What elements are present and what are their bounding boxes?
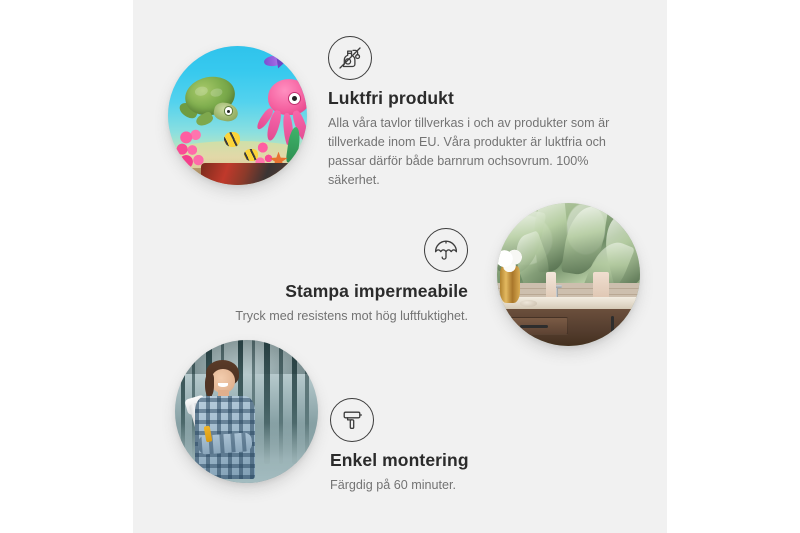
feature-description: Tryck med resistens mot hög luftfuktighe… [210, 307, 468, 326]
product-feature-infographic: Luktfri produkt Alla våra tavlor tillver… [0, 0, 800, 533]
bathroom-scene [497, 203, 640, 346]
white-flowers [497, 249, 524, 273]
rolled-towel [546, 272, 556, 299]
cabinet-handle [611, 316, 614, 339]
kids-ocean-scene [168, 46, 307, 185]
no-odor-spray-bottle-icon [328, 36, 372, 80]
feature-title: Enkel montering [330, 450, 610, 471]
product-image-forest-installer[interactable] [175, 340, 318, 483]
feature-description: Färgdig på 60 minuter. [330, 476, 610, 495]
feature-title: Luktfri produkt [328, 88, 628, 109]
drawer-handle [520, 325, 549, 329]
feature-mounting: Enkel montering Färgdig på 60 minuter. [330, 398, 610, 495]
umbrella-icon [424, 228, 468, 272]
feature-odorless: Luktfri produkt Alla våra tavlor tillver… [328, 36, 628, 190]
feature-waterproof: Stampa impermeabile Tryck med resistens … [210, 228, 468, 326]
product-image-kids-ocean[interactable] [168, 46, 307, 185]
yellow-striped-fish [224, 132, 241, 147]
feature-title: Stampa impermeabile [210, 281, 468, 302]
forest-scene [175, 340, 318, 483]
foreground-photo-strip [201, 163, 293, 185]
product-image-bathroom[interactable] [497, 203, 640, 346]
feature-description: Alla våra tavlor tillverkas i och av pro… [328, 114, 628, 191]
paint-roller-icon [330, 398, 374, 442]
woman-hair [205, 374, 214, 397]
forest-canopy [175, 340, 318, 374]
yellow-striped-fish [244, 149, 258, 162]
